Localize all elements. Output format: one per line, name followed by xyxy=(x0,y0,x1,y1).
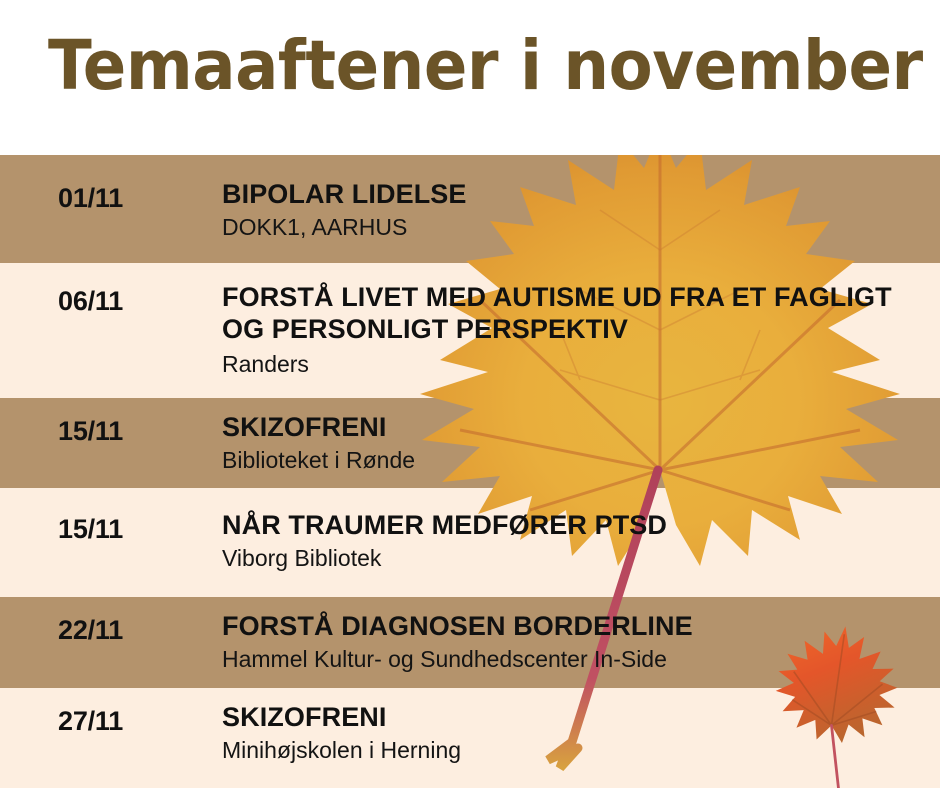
event-title: BIPOLAR LIDELSE xyxy=(222,179,932,211)
event-body: FORSTÅ DIAGNOSEN BORDERLINE Hammel Kultu… xyxy=(222,611,932,673)
event-date: 22/11 xyxy=(58,615,123,646)
event-venue: Randers xyxy=(222,351,932,379)
event-row-5: 22/11 FORSTÅ DIAGNOSEN BORDERLINE Hammel… xyxy=(0,597,940,688)
event-body: FORSTÅ LIVET MED AUTISME UD FRA ET FAGLI… xyxy=(222,282,932,379)
event-row-4: 15/11 NÅR TRAUMER MEDFØRER PTSD Viborg B… xyxy=(0,488,940,597)
event-row-6: 27/11 SKIZOFRENI Minihøjskolen i Herning xyxy=(0,688,940,788)
page-title: Temaaftener i november xyxy=(48,26,923,106)
poster-canvas: Temaaftener i november 01/11 BIPOLAR LID… xyxy=(0,0,940,788)
event-venue: Viborg Bibliotek xyxy=(222,545,932,573)
title-bar: Temaaftener i november xyxy=(0,0,940,155)
event-date: 15/11 xyxy=(58,416,123,447)
event-body: BIPOLAR LIDELSE DOKK1, AARHUS xyxy=(222,179,932,241)
event-date: 01/11 xyxy=(58,183,123,214)
event-venue: Hammel Kultur- og Sundhedscenter In-Side xyxy=(222,646,932,674)
event-venue: Minihøjskolen i Herning xyxy=(222,737,932,765)
event-body: SKIZOFRENI Minihøjskolen i Herning xyxy=(222,702,932,764)
event-venue: Biblioteket i Rønde xyxy=(222,447,932,475)
event-venue: DOKK1, AARHUS xyxy=(222,214,932,242)
event-date: 15/11 xyxy=(58,514,123,545)
event-date: 27/11 xyxy=(58,706,123,737)
event-title: FORSTÅ DIAGNOSEN BORDERLINE xyxy=(222,611,932,643)
event-title: SKIZOFRENI xyxy=(222,702,932,734)
event-body: NÅR TRAUMER MEDFØRER PTSD Viborg Bibliot… xyxy=(222,510,932,572)
event-row-1: 01/11 BIPOLAR LIDELSE DOKK1, AARHUS xyxy=(0,155,940,263)
event-date: 06/11 xyxy=(58,286,123,317)
event-row-2: 06/11 FORSTÅ LIVET MED AUTISME UD FRA ET… xyxy=(0,263,940,398)
event-title: FORSTÅ LIVET MED AUTISME UD FRA ET FAGLI… xyxy=(222,282,927,345)
event-row-3: 15/11 SKIZOFRENI Biblioteket i Rønde xyxy=(0,398,940,488)
event-title: NÅR TRAUMER MEDFØRER PTSD xyxy=(222,510,932,542)
event-title: SKIZOFRENI xyxy=(222,412,932,444)
event-body: SKIZOFRENI Biblioteket i Rønde xyxy=(222,412,932,474)
